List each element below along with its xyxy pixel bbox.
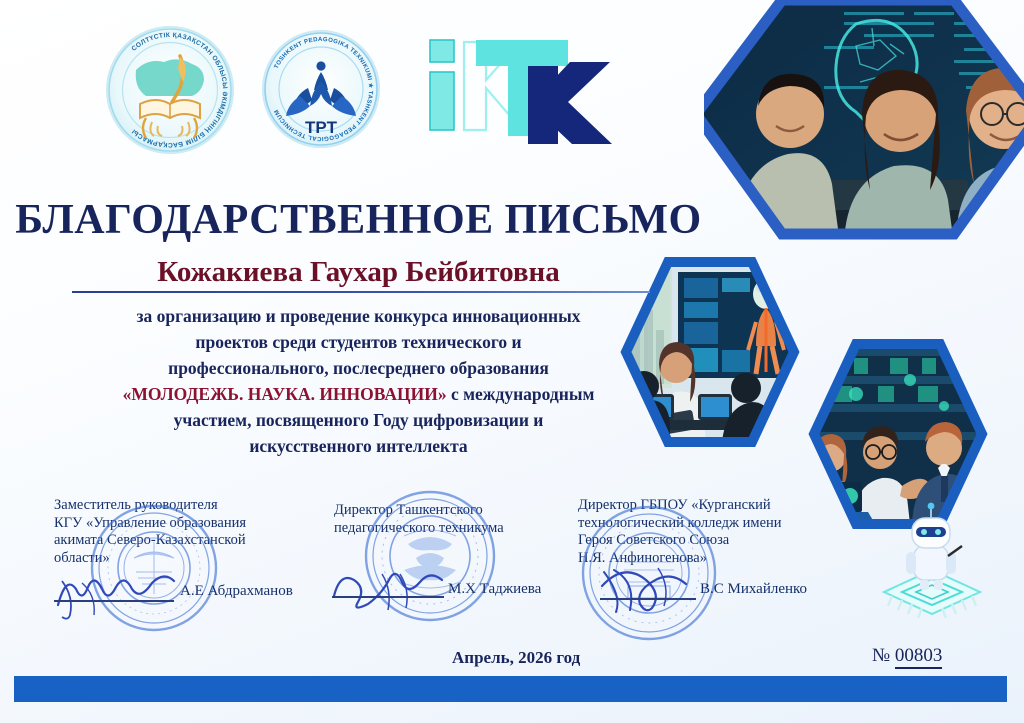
- signature-role-3-line-2: технологический колледж имени: [578, 515, 878, 533]
- bottom-accent-bar: [14, 676, 1007, 702]
- handwritten-signature-2: [330, 560, 460, 616]
- signature-block-kurgan: Директор ГБПОУ «Курганский технологическ…: [578, 497, 878, 567]
- certificate-page: СОЛТҮСТІК ҚАЗАҚСТАН ОБЛЫСЫ ӘКІМДІГІНІҢ Б…: [0, 0, 1024, 723]
- number-label: №: [872, 645, 890, 666]
- signature-role-3-line-4: Н.Я. Анфиногенова»: [578, 550, 878, 568]
- signature-role-1-line-1: Заместитель руководителя: [54, 497, 334, 515]
- issue-date: Апрель, 2026 год: [452, 648, 580, 668]
- body-line-1: за организацию и проведение конкурса инн…: [0, 306, 717, 327]
- signature-rule-2: [332, 596, 444, 598]
- recipient-name: Кожакиева Гаухар Бейбитовна: [0, 256, 717, 289]
- signature-role-1-line-3: акимата Северо-Казахстанской: [54, 532, 334, 550]
- body-line-6: искусственного интеллекта: [0, 436, 717, 457]
- emblem-artwork: [106, 26, 234, 154]
- signature-block-akimat: Заместитель руководителя КГУ «Управление…: [54, 497, 334, 567]
- signature-block-tashkent: Директор Ташкентского педагогического те…: [334, 502, 584, 537]
- signature-role-2-line-1: Директор Ташкентского: [334, 502, 584, 520]
- body-line-4-suffix: с международным: [447, 384, 595, 404]
- tashkent-pedagogical-technicum-emblem: TOSHKENT PEDAGOGIKA TEXNIKUMI ★ TASHKENT…: [262, 30, 380, 148]
- signer-name-2: М.Х Таджиева: [448, 581, 541, 598]
- recipient-underline: [72, 291, 650, 293]
- page-title: БЛАГОДАРСТВЕННОЕ ПИСЬМО: [0, 196, 717, 244]
- signature-rule-3: [600, 598, 696, 600]
- body-text: за организацию и проведение конкурса инн…: [0, 306, 717, 432]
- number-value: 00803: [895, 645, 943, 669]
- body-line-4: «МОЛОДЕЖЬ. НАУКА. ИННОВАЦИИ» с междунаро…: [0, 384, 717, 405]
- signature-role-3-line-1: Директор ГБПОУ «Курганский: [578, 497, 878, 515]
- certificate-number: № 00803: [872, 645, 942, 667]
- emblem2-abbreviation: TPT: [305, 118, 338, 137]
- hex-photo-1: [704, 0, 1024, 244]
- itk-logo: [424, 26, 614, 151]
- signer-name-1: А.Е Абдрахманов: [180, 583, 293, 600]
- signature-role-1-line-4: области»: [54, 550, 334, 568]
- signature-role-1-line-2: КГУ «Управление образования: [54, 515, 334, 533]
- itk-logo-artwork: [424, 26, 614, 146]
- body-line-2: проектов среди студентов технического и: [0, 332, 717, 353]
- program-title: «МОЛОДЕЖЬ. НАУКА. ИННОВАЦИИ»: [123, 384, 447, 404]
- robot-artwork: [856, 496, 1006, 646]
- body-line-3: профессионального, послесреднего образов…: [0, 358, 717, 379]
- signer-name-3: В.С Михайленко: [700, 581, 807, 598]
- north-kazakhstan-education-dept-emblem: СОЛТҮСТІК ҚАЗАҚСТАН ОБЛЫСЫ ӘКІМДІГІНІҢ Б…: [106, 26, 234, 154]
- signature-role-2-line-2: педагогического техникума: [334, 520, 584, 538]
- signature-rule-1: [54, 600, 174, 602]
- students-with-laptop-ai-hexagon: [704, 0, 1024, 249]
- ai-robot-on-chip: [856, 496, 1006, 651]
- body-line-5: участием, посвященного Году цифровизации…: [0, 410, 717, 431]
- handwritten-signature-1: [52, 565, 182, 621]
- signature-role-3-line-3: Героя Советского Союза: [578, 532, 878, 550]
- emblem2-artwork: TPT: [262, 30, 380, 148]
